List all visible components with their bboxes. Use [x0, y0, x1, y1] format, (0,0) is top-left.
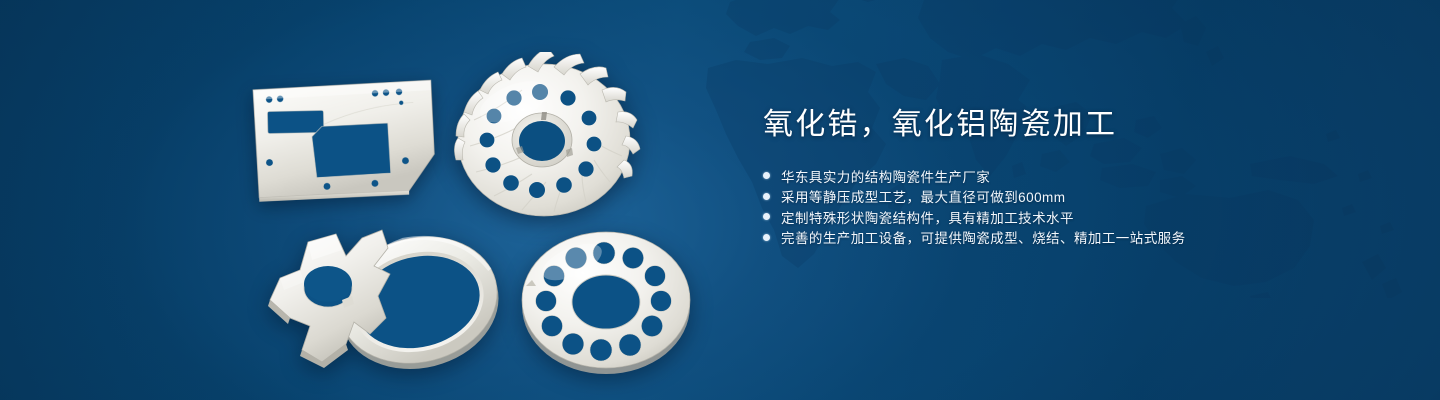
list-item: 华东具实力的结构陶瓷件生产厂家 [763, 166, 1383, 187]
page-title: 氧化锆，氧化铝陶瓷加工 [763, 106, 1383, 144]
list-item-label: 采用等静压成型工艺，最大直径可做到600mm [781, 186, 1065, 206]
list-item-label: 定制特殊形状陶瓷结构件，具有精加工技术水平 [781, 207, 1074, 227]
list-item: 采用等静压成型工艺，最大直径可做到600mm [763, 186, 1383, 207]
bullet-dot-icon [763, 172, 770, 179]
list-item-label: 华东具实力的结构陶瓷件生产厂家 [781, 166, 990, 186]
feature-list: 华东具实力的结构陶瓷件生产厂家 采用等静压成型工艺，最大直径可做到600mm 定… [763, 166, 1383, 248]
bullet-dot-icon [763, 213, 770, 220]
list-item-label: 完善的生产加工设备，可提供陶瓷成型、烧结、精加工一站式服务 [781, 227, 1186, 247]
list-item: 定制特殊形状陶瓷结构件，具有精加工技术水平 [763, 207, 1383, 228]
promo-banner: 氧化锆，氧化铝陶瓷加工 华东具实力的结构陶瓷件生产厂家 采用等静压成型工艺，最大… [0, 0, 1440, 400]
list-item: 完善的生产加工设备，可提供陶瓷成型、烧结、精加工一站式服务 [763, 227, 1383, 248]
banner-copy: 氧化锆，氧化铝陶瓷加工 华东具实力的结构陶瓷件生产厂家 采用等静压成型工艺，最大… [763, 106, 1383, 248]
bullet-dot-icon [763, 193, 770, 200]
bullet-dot-icon [763, 234, 770, 241]
